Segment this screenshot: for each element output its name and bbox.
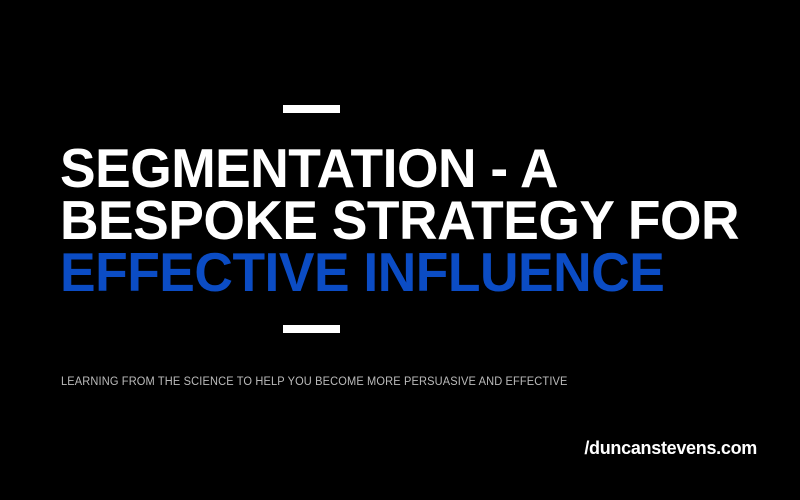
title-line-1: SEGMENTATION - A bbox=[60, 142, 758, 194]
site-url-label: /duncanstevens.com bbox=[584, 438, 757, 458]
divider-bottom bbox=[283, 325, 340, 333]
title-line-2: BESPOKE STRATEGY FOR bbox=[60, 194, 758, 246]
subtitle-text: LEARNING FROM THE SCIENCE TO HELP YOU BE… bbox=[61, 376, 568, 389]
page-title: SEGMENTATION - A BESPOKE STRATEGY FOR EF… bbox=[60, 142, 780, 298]
title-line-3-accent: EFFECTIVE INFLUENCE bbox=[60, 246, 758, 298]
divider-top bbox=[283, 105, 340, 113]
title-slide: SEGMENTATION - A BESPOKE STRATEGY FOR EF… bbox=[0, 0, 800, 500]
